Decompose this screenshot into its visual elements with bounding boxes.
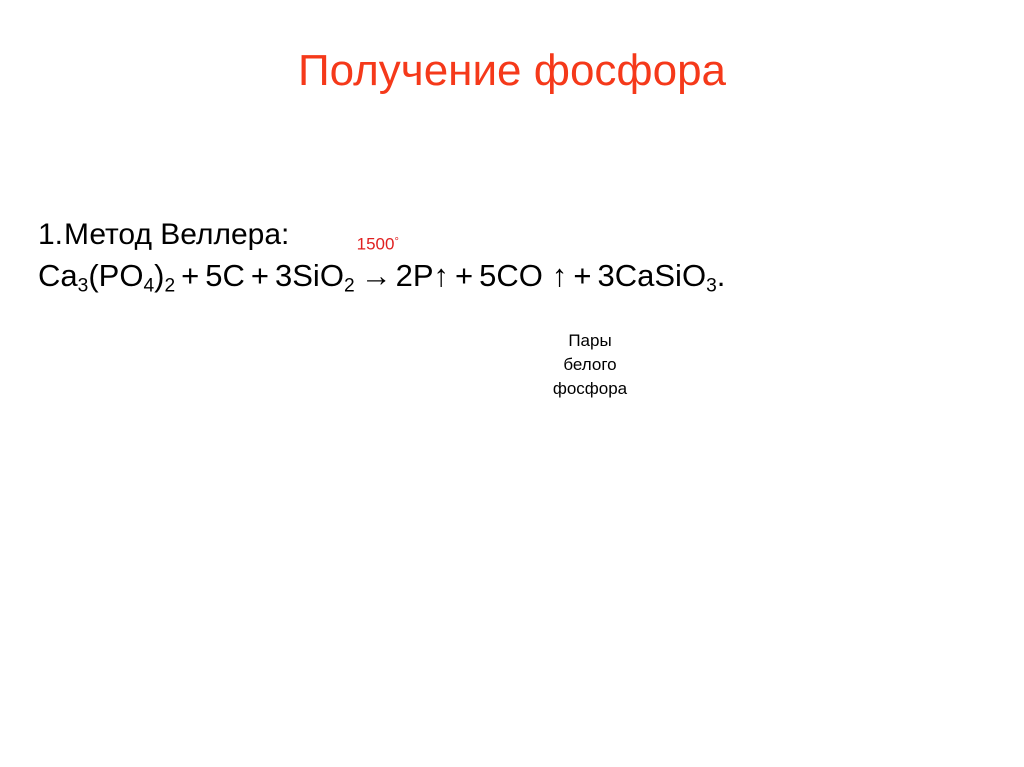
chemical-equation: Ca3(PO4)2 + 5C + 3SiO2 1500° → 2P↑ + 5CO… — [38, 256, 998, 296]
formula-casio: 3CaSiO — [598, 258, 707, 293]
product-phosphorus: 2P↑ — [396, 256, 449, 296]
subscript-sio-2: 2 — [344, 275, 355, 296]
slide-body: 1. Метод Веллера: Ca3(PO4)2 + 5C + 3SiO2… — [38, 216, 998, 296]
formula-5co: 5CO — [479, 258, 543, 293]
slide-canvas: Получение фосфора 1. Метод Веллера: Ca3(… — [0, 0, 1024, 767]
reactant-calcium-phosphate: Ca3(PO4)2 — [38, 256, 175, 296]
sentence-period: . — [717, 258, 726, 293]
reaction-arrow-group: 1500° → — [355, 256, 396, 296]
reaction-condition-temperature: 1500° — [357, 234, 399, 253]
subscript-group-2: 2 — [164, 275, 175, 296]
formula-sio: 3SiO — [275, 258, 344, 293]
plus-operator-1: + — [175, 256, 205, 296]
vapor-caption-line-2: белого — [500, 353, 680, 377]
product-calcium-silicate: 3CaSiO3. — [598, 256, 726, 296]
reactant-carbon: 5C — [205, 256, 245, 296]
right-arrow-icon: → — [361, 258, 392, 293]
subscript-o-4: 4 — [143, 275, 154, 296]
vapor-caption-line-1: Пары — [500, 329, 680, 353]
method-label: Метод Веллера: — [64, 216, 289, 254]
gas-up-arrow-icon-phosphorus: ↑ — [434, 256, 450, 296]
method-number: 1. — [38, 216, 64, 254]
product-carbon-monoxide: 5CO↑ — [479, 256, 567, 296]
subscript-ca-3: 3 — [78, 275, 89, 296]
formula-paren-close: ) — [154, 258, 164, 293]
vapor-caption-line-3: фосфора — [500, 377, 680, 401]
formula-2p: 2P — [396, 258, 434, 293]
reactant-silica: 3SiO2 — [275, 256, 355, 296]
subscript-casio-3: 3 — [706, 275, 717, 296]
page-title: Получение фосфора — [0, 45, 1024, 97]
formula-po-open: (PO — [88, 258, 143, 293]
formula-ca: Ca — [38, 258, 78, 293]
plus-operator-4: + — [567, 256, 597, 296]
method-heading: 1. Метод Веллера: — [38, 216, 998, 254]
plus-operator-2: + — [245, 256, 275, 296]
plus-operator-3: + — [449, 256, 479, 296]
vapor-caption: Пары белого фосфора — [500, 329, 680, 401]
degree-symbol-icon: ° — [394, 236, 398, 248]
condition-value: 1500 — [357, 235, 395, 254]
gas-up-arrow-icon-carbon-monoxide: ↑ — [552, 256, 568, 296]
